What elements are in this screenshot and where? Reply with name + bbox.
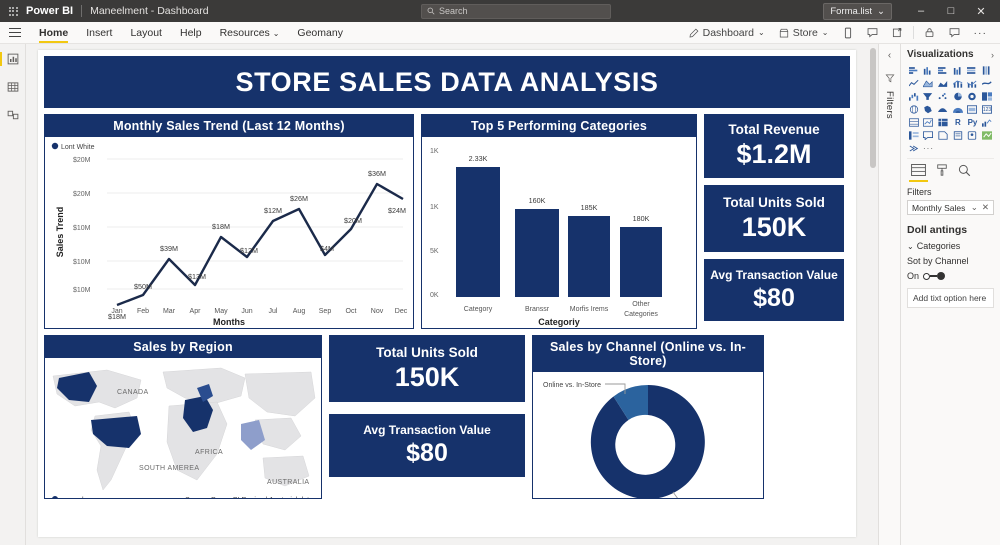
bar-label-3: 180K (633, 214, 650, 223)
analytics-magnifier-icon[interactable] (958, 164, 971, 179)
report-row-top: Monthly Sales Trend (Last 12 Months) Lon… (38, 114, 856, 329)
area-chart-icon[interactable] (922, 78, 936, 89)
monthly-sales-trend-card[interactable]: Monthly Sales Trend (Last 12 Months) Lon… (44, 114, 414, 329)
bar-chart-svg: 1K 1K 5K 0K 2.33K 160K 1 (422, 137, 696, 327)
store-icon (779, 28, 789, 38)
share-icon (892, 27, 903, 38)
slicer-icon[interactable] (907, 130, 921, 141)
chevron-down-icon: ⌄ (822, 28, 829, 37)
sales-by-region-card[interactable]: Sales by Region (44, 335, 322, 499)
bar-morfis-irems[interactable] (568, 216, 610, 297)
search-input[interactable]: Search (421, 4, 611, 19)
comment-icon (867, 27, 878, 38)
line-chart-icon[interactable] (907, 78, 921, 89)
main-shell: STORE SALES DATA ANALYSIS Monthly Sales … (0, 44, 1000, 545)
world-map-svg[interactable]: CANADA SOUTH AMEREA AFRICA AUSTRALIA pow… (45, 358, 321, 498)
map-label-canada: CANADA (117, 389, 149, 396)
bar-other-categories[interactable] (620, 227, 662, 297)
kpi-total-units-sold-2-label: Total Units Sold (376, 345, 478, 360)
document-title: Maneelment - Dashboard (90, 5, 208, 17)
format-list-dropdown[interactable]: Forma.list ⌄ (823, 3, 892, 20)
ribbon-tab-resources-label: Resources (220, 27, 270, 39)
filters-section-label: Filters (907, 187, 994, 197)
add-option-input[interactable]: Add tixt option here (907, 288, 994, 308)
model-view-icon[interactable] (3, 106, 23, 124)
table-icon[interactable] (936, 117, 950, 128)
donut-chart-svg: Online vs. In-Store Online (533, 372, 763, 498)
map-label-south-america: SOUTH AMEREA (139, 465, 199, 472)
monthly-sales-trend-body: Lont White $20M $20M $10M $10M (45, 137, 413, 328)
point-label-jun: $12M (240, 246, 258, 255)
search-placeholder: Search (439, 6, 468, 16)
kpi-total-revenue-label: Total Revenue (728, 122, 819, 137)
svg-text:123: 123 (983, 107, 992, 113)
settings-sort-label: Sot by Channel (907, 256, 969, 266)
clustered-bar-chart-icon[interactable] (922, 65, 936, 76)
kpi-total-revenue[interactable]: Total Revenue $1.2M (704, 114, 844, 178)
ribbon-bar: Home Insert Layout Help Resources ⌄ Geom… (0, 22, 1000, 44)
comment-button[interactable] (860, 22, 885, 44)
map-label-africa: AFRICA (195, 449, 223, 456)
bar-x-axis-title: Categoriy (422, 317, 696, 327)
point-label-may: $18M (212, 222, 230, 231)
report-page: STORE SALES DATA ANALYSIS Monthly Sales … (38, 50, 856, 537)
chat-icon (949, 27, 960, 38)
ribbon-right-actions: Dashboard ⌄ Store ⌄ (682, 22, 1000, 44)
point-label-aug: $26M (290, 194, 308, 203)
ribbon-tab-home[interactable]: Home (30, 22, 77, 44)
filled-map-icon[interactable] (922, 104, 936, 115)
stacked-bar-chart-icon[interactable] (907, 65, 921, 76)
toggle-state-label: On (907, 271, 919, 281)
kpi-total-units-sold-2-value: 150K (395, 362, 460, 393)
waterfall-chart-icon[interactable] (907, 91, 921, 102)
x-label-feb: Feb (137, 308, 149, 315)
line-stacked-column-icon[interactable] (951, 78, 965, 89)
point-label-apr: $13M (188, 272, 206, 281)
gauge-icon[interactable] (966, 104, 980, 115)
point-label-feb: $50M (134, 282, 152, 291)
point-label-nov: $36M (368, 169, 386, 178)
paginated-report-icon[interactable] (951, 130, 965, 141)
visualizations-pane: Visualizations › (900, 44, 1000, 545)
ribbon-tab-resources[interactable]: Resources ⌄ (211, 22, 289, 44)
donut-label-top: Online vs. In-Store (543, 382, 601, 389)
lock-icon (924, 27, 935, 38)
sales-by-channel-card[interactable]: Sales by Channel (Online vs. In-Store) O… (532, 335, 764, 499)
store-dropdown[interactable]: Store ⌄ (772, 22, 836, 44)
filter-chip-actions: ⌄ ✕ (971, 202, 989, 213)
x-label-oct: Oct (346, 308, 357, 315)
top-categories-title: Top 5 Performing Categories (422, 115, 696, 137)
visualizations-title: Visualizations (907, 49, 974, 60)
top-categories-card[interactable]: Top 5 Performing Categories 1K 1K 5K 0K (421, 114, 697, 329)
x-label-jun: Jun (241, 308, 252, 315)
kpi-total-units-sold-label: Total Units Sold (723, 195, 825, 210)
cat-label-3a: Other (632, 301, 650, 308)
x-label-dec: Dec (395, 308, 408, 315)
legend-label: Lont White (61, 144, 95, 151)
kpi-avg-transaction-2-label: Avg Transaction Value (363, 423, 491, 437)
settings-panel-title: Doll antings (907, 224, 994, 236)
point-label-jul: $12M (264, 206, 282, 215)
cat-label-2: Morfis Irems (570, 306, 609, 313)
q-and-a-icon[interactable] (922, 130, 936, 141)
key-influencers-icon[interactable] (980, 117, 994, 128)
search-icon (427, 7, 435, 15)
stacked-column-chart-icon[interactable] (936, 65, 950, 76)
point-label-sep: $4M (320, 244, 334, 253)
kpi-avg-transaction-value-2[interactable]: Avg Transaction Value $80 (329, 414, 525, 477)
y-tick-1: $20M (73, 191, 91, 198)
x-label-jan: Jan (111, 308, 122, 315)
report-canvas-area: STORE SALES DATA ANALYSIS Monthly Sales … (26, 44, 878, 545)
kpi-avg-transaction-label: Avg Transaction Value (710, 268, 838, 282)
sales-by-channel-body: Online vs. In-Store Online (533, 372, 763, 498)
sales-by-region-body: CANADA SOUTH AMEREA AFRICA AUSTRALIA pow… (45, 358, 321, 498)
card-icon[interactable]: 123 (980, 104, 994, 115)
report-view-icon[interactable] (3, 50, 23, 68)
point-label-mar: $39M (160, 244, 178, 253)
100-stacked-column-icon[interactable] (980, 65, 994, 76)
chevron-right-icon[interactable]: › (991, 50, 994, 60)
settings-toggle[interactable]: On (907, 271, 994, 281)
close-icon[interactable]: ✕ (982, 202, 989, 213)
cat-label-1: Branssr (525, 306, 550, 313)
power-apps-icon[interactable] (980, 130, 994, 141)
kpi-icon[interactable] (922, 117, 936, 128)
chevron-down-icon: ⌄ (273, 29, 280, 38)
chevron-down-icon: ⌄ (907, 242, 914, 251)
x-label-mar: Mar (163, 308, 176, 315)
chat-button[interactable] (942, 22, 967, 44)
more-icon[interactable]: ··· (922, 143, 936, 154)
mobile-icon (843, 27, 853, 39)
ribbon-tab-geomany[interactable]: Geomany (288, 22, 352, 44)
y-tick-2: $10M (73, 225, 91, 232)
kpi-total-units-sold[interactable]: Total Units Sold 150K (704, 185, 844, 252)
bar-category[interactable] (456, 167, 500, 297)
kpi-total-revenue-value: $1.2M (736, 139, 811, 170)
bar-label-1: 160K (529, 196, 546, 205)
divider (913, 26, 914, 39)
dashboard-label: Dashboard (703, 27, 754, 39)
filter-chip-monthly-sales[interactable]: Monthly Sales ⌄ ✕ (907, 200, 994, 215)
filters-rail[interactable]: ‹ Filters (878, 44, 900, 545)
scrollbar-thumb[interactable] (870, 48, 876, 168)
title-bar: Power BI Maneelment - Dashboard Search F… (0, 0, 1000, 22)
pie-chart-icon[interactable] (951, 91, 965, 102)
toggle-knob-off (923, 273, 930, 280)
map-icon[interactable] (907, 104, 921, 115)
donut-chart-icon[interactable] (966, 91, 980, 102)
map-source-label: Source: Power BI Region | Anetysial data (185, 497, 313, 498)
app-launcher-icon[interactable] (0, 7, 26, 16)
share-button[interactable] (885, 22, 910, 44)
x-label-may: May (214, 308, 228, 315)
chevron-down-icon[interactable]: ⌄ (971, 202, 978, 213)
clustered-column-chart-icon[interactable] (951, 65, 965, 76)
smart-narrative-icon[interactable] (936, 130, 950, 141)
shape-map-icon[interactable] (936, 104, 950, 115)
minimize-button[interactable]: – (906, 0, 936, 22)
ribbon-chart-icon[interactable] (980, 78, 994, 89)
treemap-icon[interactable] (980, 91, 994, 102)
filter-chip-label: Monthly Sales (912, 203, 965, 213)
r-script-icon[interactable]: R (951, 117, 965, 128)
azure-map-icon[interactable] (951, 104, 965, 115)
multi-row-card-icon[interactable] (907, 117, 921, 128)
100-stacked-bar-icon[interactable] (966, 65, 980, 76)
cat-label-0: Category (464, 306, 493, 313)
filter-icon (885, 73, 895, 83)
filters-rail-label: Filters (884, 91, 895, 119)
map-label-australia: AUSTRALIA (267, 479, 310, 486)
decomposition-tree-icon[interactable] (966, 130, 980, 141)
kpi-stack-center: Total Units Sold 150K Avg Transaction Va… (329, 335, 525, 499)
canvas-vertical-scrollbar[interactable] (868, 44, 878, 545)
stacked-area-chart-icon[interactable] (936, 78, 950, 89)
mobile-view-button[interactable] (836, 22, 860, 44)
more-icon: ··· (974, 27, 988, 39)
funnel-chart-icon[interactable] (922, 91, 936, 102)
ribbon-tab-insert[interactable]: Insert (77, 22, 121, 44)
kpi-avg-transaction-2-value: $80 (406, 439, 448, 468)
map-legend-label: power by (61, 497, 90, 498)
x-label-nov: Nov (371, 308, 384, 315)
settings-categories-label: Categories (917, 241, 961, 251)
menu-hamburger-icon[interactable] (0, 32, 30, 34)
line-chart-svg: Lont White $20M $20M $10M $10M (45, 137, 413, 325)
close-button[interactable]: ✕ (966, 0, 996, 22)
x-label-apr: Apr (190, 308, 202, 315)
visual-type-gallery: 123 R Py ··· (907, 65, 994, 154)
store-label: Store (793, 27, 818, 39)
y-tick-1: 1K (430, 204, 439, 211)
more-options-button[interactable]: ··· (967, 22, 995, 44)
kpi-total-units-sold-value: 150K (742, 212, 807, 243)
point-label-oct: $20M (344, 216, 362, 225)
chevron-left-icon[interactable]: ‹ (888, 50, 891, 61)
line-clustered-column-icon[interactable] (966, 78, 980, 89)
y-tick-4: $10M (73, 287, 91, 294)
bar-branssr[interactable] (515, 209, 559, 297)
settings-row-sort: Sot by Channel (907, 256, 994, 266)
toggle-track (930, 275, 937, 277)
y-tick-3: 0K (430, 292, 439, 299)
y-axis-title: Sales Trend (55, 207, 65, 258)
toggle-knob-on (937, 272, 945, 280)
point-label-dec: $24M (388, 206, 406, 215)
format-paint-icon[interactable] (936, 164, 948, 179)
divider (81, 5, 82, 17)
x-label-sep: Sep (319, 308, 332, 315)
ribbon-tab-layout[interactable]: Layout (121, 22, 171, 44)
monthly-sales-trend-title: Monthly Sales Trend (Last 12 Months) (45, 115, 413, 137)
toggle-switch[interactable] (923, 272, 945, 281)
settings-row-categories[interactable]: ⌄ Categories (907, 241, 994, 251)
lock-button[interactable] (917, 22, 942, 44)
scatter-chart-icon[interactable] (936, 91, 950, 102)
maximize-button[interactable]: □ (936, 0, 966, 22)
x-label-aug: Aug (293, 308, 306, 315)
legend-marker (52, 143, 58, 149)
ribbon-tab-help[interactable]: Help (171, 22, 211, 44)
x-axis-labels: Jan Feb Mar Apr May Jun Jul Aug Sep Oct (111, 308, 407, 315)
dashboard-dropdown[interactable]: Dashboard ⌄ (682, 22, 772, 44)
y-tick-0: $20M (73, 157, 91, 164)
bar-label-2: 185K (581, 203, 598, 212)
kpi-avg-transaction-value-number: $80 (753, 284, 795, 313)
pencil-icon (689, 28, 699, 38)
sales-by-region-title: Sales by Region (45, 336, 321, 358)
callout-line-bottom (673, 492, 693, 498)
left-view-rail (0, 44, 26, 545)
x-label-jul: Jul (269, 308, 278, 315)
arrow-icon[interactable] (907, 143, 921, 154)
y-tick-2: 5K (430, 248, 439, 255)
kpi-stack-right: Total Revenue $1.2M Total Units Sold 150… (704, 114, 844, 329)
x-axis-title: Months (45, 317, 413, 327)
y-tick-0: 1K (430, 148, 439, 155)
window-controls: Forma.list ⌄ – □ ✕ (823, 0, 1000, 22)
page-title: STORE SALES DATA ANALYSIS (44, 56, 850, 108)
chevron-down-icon: ⌄ (758, 28, 765, 37)
py-script-icon[interactable]: Py (966, 117, 980, 128)
kpi-total-units-sold-2[interactable]: Total Units Sold 150K (329, 335, 525, 402)
app-name: Power BI (26, 5, 81, 17)
viz-panel-tabs (907, 158, 994, 181)
top-categories-body: 1K 1K 5K 0K 2.33K 160K 1 (422, 137, 696, 328)
visualizations-header: Visualizations › (907, 49, 994, 60)
kpi-avg-transaction-value[interactable]: Avg Transaction Value $80 (704, 259, 844, 321)
bar-label-0: 2.33K (469, 154, 488, 163)
y-tick-3: $10M (73, 259, 91, 266)
build-visual-icon[interactable] (911, 164, 926, 179)
format-list-label: Forma.list (830, 6, 872, 17)
table-view-icon[interactable] (3, 78, 23, 96)
sales-by-channel-title: Sales by Channel (Online vs. In-Store) (533, 336, 763, 372)
search-area: Search (209, 4, 824, 19)
report-row-bottom: Sales by Region (38, 329, 856, 499)
chevron-down-icon: ⌄ (877, 6, 885, 17)
